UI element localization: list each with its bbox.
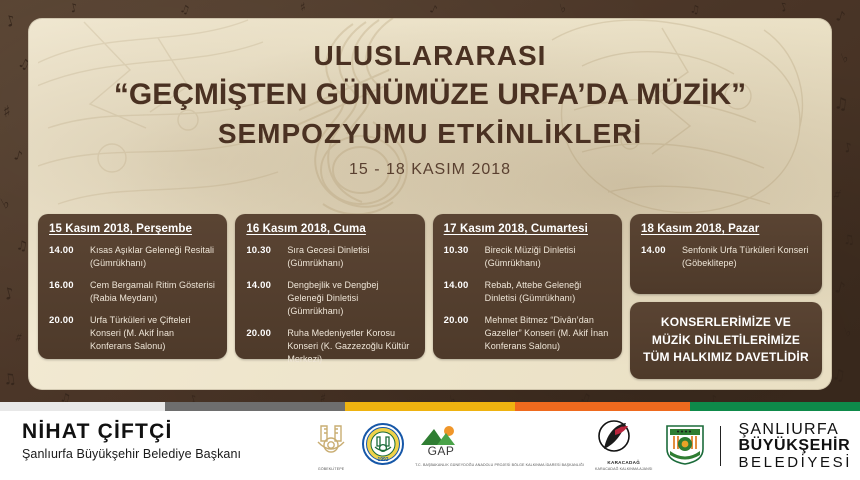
day-title: 18 Kasım 2018, Pazar	[641, 223, 812, 235]
stripe-segment-orange	[515, 402, 690, 411]
sanliurfa-coat-of-arms-logo	[663, 422, 707, 471]
harran-university-logo: 1992	[362, 423, 404, 470]
event-row: 10.30 Birecik Müziği Dinletisi (Gümrükha…	[444, 244, 612, 270]
event-row: 16.00 Cem Bergamalı Ritim Gösterisi (Rab…	[49, 279, 217, 305]
event-row: 14.00 Rebab, Attebe Geleneği Dinletisi (…	[444, 279, 612, 305]
main-cream-panel: ULUSLARARASI “GEÇMİŞTEN GÜNÜMÜZE URFA’DA…	[28, 18, 832, 390]
event-time: 14.00	[641, 244, 675, 270]
gap-logo: GAP T.C. BAŞBAKANLIK GÜNEYDOĞU ANADOLU P…	[415, 424, 584, 467]
event-description: Sıra Gecesi Dinletisi (Gümrükhanı)	[287, 244, 414, 270]
title-line-2: “GEÇMİŞTEN GÜNÜMÜZE URFA’DA MÜZİK”	[28, 78, 832, 112]
wordmark-line-1: ŞANLIURFA	[738, 422, 852, 438]
poster-root: ♪ ♫ ♯ ♪ ♭ ♫ ♪ ♯ ♫ ♪ ♭ ♫ ♪ ♯ ♫ ♪ ♭ ♫ ♪ ♫ …	[0, 0, 860, 480]
event-description: Cem Bergamalı Ritim Gösterisi (Rabia Mey…	[90, 279, 217, 305]
event-description: Mehmet Bitmez “Divân’dan Gazeller” Konse…	[485, 314, 612, 353]
day-title: 17 Kasım 2018, Cumartesi	[444, 223, 612, 235]
logo-divider	[720, 426, 721, 466]
event-time: 20.00	[444, 314, 478, 353]
invitation-line-3: TÜM HALKIMIZ DAVETLİDİR	[643, 349, 809, 366]
wordmark-line-2: BÜYÜKŞEHİR	[738, 438, 852, 454]
event-description: Senfonik Urfa Türküleri Konseri (Göbekli…	[682, 244, 812, 270]
poster-header: ULUSLARARASI “GEÇMİŞTEN GÜNÜMÜZE URFA’DA…	[28, 18, 832, 179]
day-title: 15 Kasım 2018, Perşembe	[49, 223, 217, 235]
schedule-column-day3: 17 Kasım 2018, Cumartesi 10.30 Birecik M…	[433, 214, 622, 379]
invitation-line-2: MÜZİK DİNLETİLERİMİZE	[643, 332, 809, 349]
event-description: Birecik Müziği Dinletisi (Gümrükhanı)	[485, 244, 612, 270]
gobeklitepe-logo-caption: GÖBEKLİTEPE	[311, 467, 351, 471]
day-card: 15 Kasım 2018, Perşembe 14.00 Kısas Aşık…	[38, 214, 227, 359]
wordmark-line-3: BELEDİYESİ	[738, 455, 852, 470]
title-line-1: ULUSLARARASI	[28, 40, 832, 72]
event-row: 20.00 Mehmet Bitmez “Divân’dan Gazeller”…	[444, 314, 612, 353]
event-description: Ruha Medeniyetler Korosu Konseri (K. Gaz…	[287, 327, 414, 366]
stripe-segment-dark-gray	[165, 402, 345, 411]
event-time: 20.00	[246, 327, 280, 366]
event-time: 10.30	[444, 244, 478, 270]
mayor-role: Şanlıurfa Büyükşehir Belediye Başkanı	[22, 447, 241, 461]
event-description: Rebab, Attebe Geleneği Dinletisi (Gümrük…	[485, 279, 612, 305]
schedule-column-day4: 18 Kasım 2018, Pazar 14.00 Senfonik Urfa…	[630, 214, 822, 379]
invitation-banner: KONSERLERİMİZE VE MÜZİK DİNLETİLERİMİZE …	[630, 302, 822, 379]
color-stripe	[0, 402, 860, 411]
karacadag-logo-subcaption: KARACADAĞ KALKINMA AJANSI	[595, 467, 652, 471]
event-row: 10.30 Sıra Gecesi Dinletisi (Gümrükhanı)	[246, 244, 414, 270]
karacadag-logo: KARACADAĞ KARACADAĞ KALKINMA AJANSI	[595, 420, 652, 471]
schedule-column-day2: 16 Kasım 2018, Cuma 10.30 Sıra Gecesi Di…	[235, 214, 424, 379]
event-time: 20.00	[49, 314, 83, 353]
sponsor-logo-row: GÖBEKLİTEPE 1992	[311, 417, 852, 475]
event-description: Kısas Aşıklar Geleneği Resitali (Gümrükh…	[90, 244, 217, 270]
event-date-range: 15 - 18 KASIM 2018	[28, 161, 832, 179]
mayor-name: NİHAT ÇİFTÇİ	[22, 420, 241, 444]
event-description: Urfa Türküleri ve Çifteleri Konseri (M. …	[90, 314, 217, 353]
event-time: 14.00	[49, 244, 83, 270]
event-row: 14.00 Kısas Aşıklar Geleneği Resitali (G…	[49, 244, 217, 270]
footer-bar: NİHAT ÇİFTÇİ Şanlıurfa Büyükşehir Beledi…	[0, 411, 860, 480]
event-time: 16.00	[49, 279, 83, 305]
invitation-line-1: KONSERLERİMİZE VE	[643, 314, 809, 331]
stripe-segment-green	[690, 402, 860, 411]
event-row: 14.00 Senfonik Urfa Türküleri Konseri (G…	[641, 244, 812, 270]
stripe-segment-light-gray	[0, 402, 165, 411]
schedule-column-day1: 15 Kasım 2018, Perşembe 14.00 Kısas Aşık…	[38, 214, 227, 379]
day-title: 16 Kasım 2018, Cuma	[246, 223, 414, 235]
mayor-block: NİHAT ÇİFTÇİ Şanlıurfa Büyükşehir Beledi…	[22, 420, 241, 461]
event-row: 20.00 Urfa Türküleri ve Çifteleri Konser…	[49, 314, 217, 353]
harran-university-year: 1992	[378, 457, 389, 463]
event-time: 10.30	[246, 244, 280, 270]
gap-logo-wordmark: GAP	[428, 444, 455, 457]
event-row: 20.00 Ruha Medeniyetler Korosu Konseri (…	[246, 327, 414, 366]
karacadag-logo-caption: KARACADAĞ	[595, 460, 652, 466]
gap-logo-caption: T.C. BAŞBAKANLIK GÜNEYDOĞU ANADOLU PROJE…	[415, 463, 584, 467]
sanliurfa-municipality-wordmark: ŞANLIURFA BÜYÜKŞEHİR BELEDİYESİ	[738, 422, 852, 470]
title-line-3: SEMPOZYUMU ETKİNLİKLERİ	[28, 118, 832, 150]
day-card: 18 Kasım 2018, Pazar 14.00 Senfonik Urfa…	[630, 214, 822, 294]
event-time: 14.00	[246, 279, 280, 318]
schedule-columns: 15 Kasım 2018, Perşembe 14.00 Kısas Aşık…	[38, 214, 822, 379]
event-time: 14.00	[444, 279, 478, 305]
day-card: 17 Kasım 2018, Cumartesi 10.30 Birecik M…	[433, 214, 622, 359]
stripe-segment-yellow	[345, 402, 515, 411]
event-description: Dengbejlik ve Dengbej Geleneği Dinletisi…	[287, 279, 414, 318]
day-card: 16 Kasım 2018, Cuma 10.30 Sıra Gecesi Di…	[235, 214, 424, 359]
gobeklitepe-emblem-logo: GÖBEKLİTEPE	[311, 421, 351, 471]
event-row: 14.00 Dengbejlik ve Dengbej Geleneği Din…	[246, 279, 414, 318]
